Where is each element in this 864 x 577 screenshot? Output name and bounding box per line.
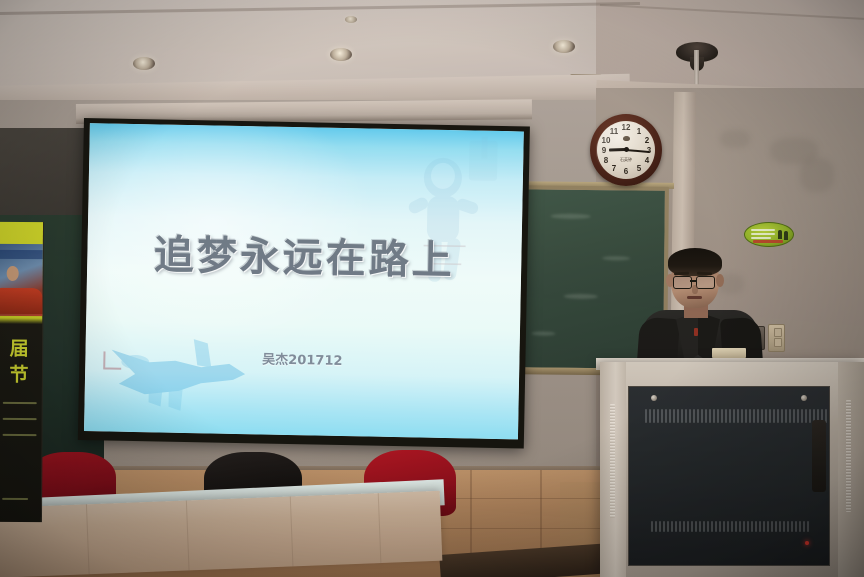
wall-clock: 12 1 2 3 4 5 6 7 8 9 10 11 石英钟 — [590, 114, 662, 186]
poster-body-line — [3, 402, 37, 404]
podium-side-vent — [846, 400, 851, 512]
presenter-tie-accent — [694, 328, 698, 336]
projector-screen-frame: 追梦永远在路上 吴杰201712 — [78, 118, 530, 449]
light-switch-plate[interactable] — [768, 324, 785, 352]
clock-glass-reflection — [596, 122, 656, 180]
wall-smudge — [800, 158, 834, 192]
cloth-fold — [86, 504, 90, 574]
presenter-nose — [692, 285, 698, 294]
chalk-mark — [564, 294, 598, 299]
cloth-fold — [186, 500, 190, 570]
ceiling-downlight-icon — [330, 48, 352, 61]
sign-text-line — [751, 237, 771, 239]
wall-smudge — [720, 130, 750, 148]
ceiling-downlight-icon — [133, 57, 155, 70]
podium-cable-bundle — [812, 420, 826, 492]
presenter-ear-right — [716, 274, 724, 287]
podium-right-edge — [838, 362, 864, 577]
sign-text-line — [751, 229, 775, 231]
chalk-mark — [551, 214, 591, 219]
glasses-lens-left-icon — [673, 276, 692, 289]
poster-title-line-2: 节 — [0, 364, 42, 386]
sign-figure-icon — [784, 231, 788, 240]
poster-title-line-1: 届 — [0, 338, 42, 360]
podium-front-panel — [628, 386, 830, 566]
cloth-fold — [378, 493, 382, 563]
podium-power-led — [805, 541, 809, 545]
podium-screw — [801, 395, 807, 401]
poster-photo-header-band — [0, 250, 43, 259]
chalk-mark — [602, 256, 630, 260]
poster-photo — [0, 244, 43, 316]
poster-person-icon — [7, 266, 19, 281]
slide-title: 追梦永远在路上 — [87, 221, 522, 287]
poster-body-line — [3, 434, 37, 436]
poster-vehicle-icon — [0, 288, 43, 314]
event-poster-banner: 届 节 — [0, 222, 44, 522]
poster-body-line — [2, 498, 28, 500]
projector-screen-surface: 追梦永远在路上 吴杰201712 — [84, 123, 524, 439]
podium-vent-bank — [651, 521, 809, 532]
poster-body-line — [3, 418, 37, 420]
podium-screw — [651, 395, 657, 401]
ceiling-downlight-icon — [553, 40, 575, 53]
sign-text-line — [751, 233, 775, 235]
sign-base-bar — [753, 240, 783, 243]
podium-paper-note — [712, 348, 746, 358]
glasses-lens-right-icon — [696, 276, 715, 289]
presenter-mouth — [687, 296, 702, 299]
cloth-fold — [290, 496, 294, 566]
chalk-mark — [531, 331, 555, 335]
glasses-bridge-icon — [690, 280, 697, 282]
switch-rocker[interactable] — [774, 328, 782, 337]
green-notice-sign — [744, 222, 794, 247]
podium-left-edge — [600, 362, 626, 577]
sign-figure-icon — [778, 230, 782, 239]
switch-rocker[interactable] — [774, 338, 782, 347]
podium-vent-bank — [645, 409, 827, 423]
presentation-slide: 追梦永远在路上 吴杰201712 — [84, 123, 524, 439]
podium-side-vent — [610, 404, 615, 518]
ceiling-downlight-icon — [345, 16, 357, 23]
classroom-photo-scene: 追梦永远在路上 吴杰201712 12 1 2 3 4 5 6 7 8 9 10… — [0, 0, 864, 577]
